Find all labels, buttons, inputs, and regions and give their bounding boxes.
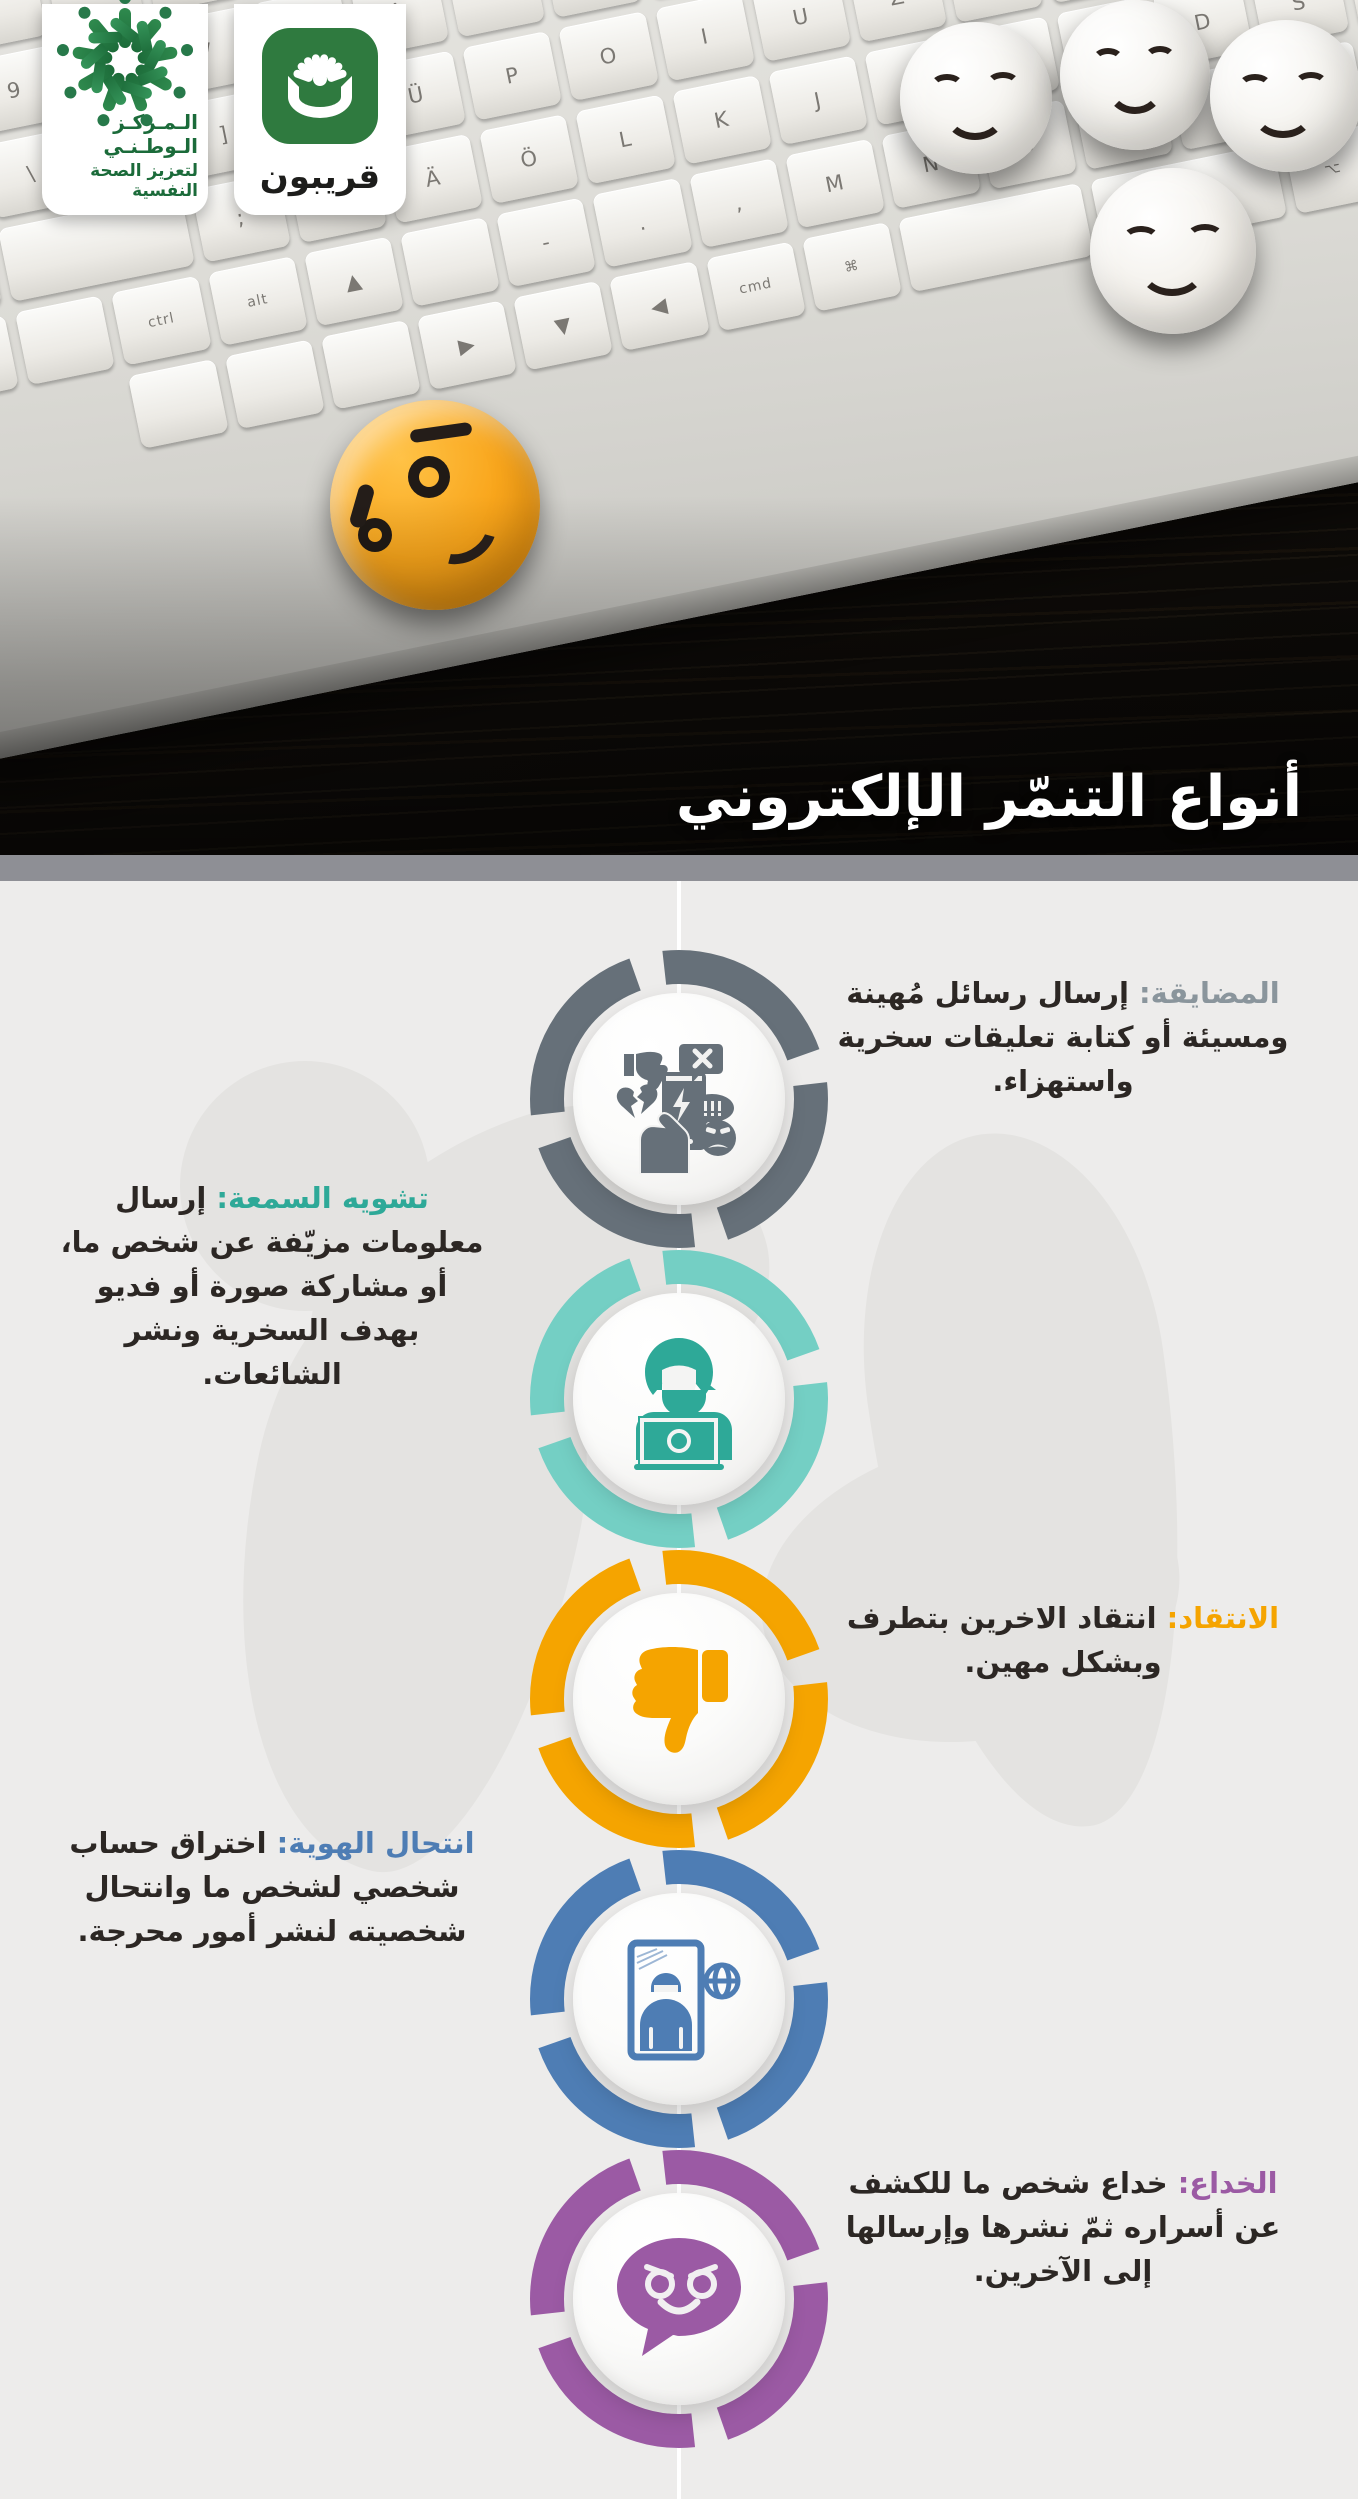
node-impersonation[interactable] xyxy=(529,1849,829,2149)
logo-line2: لتعزيز الصحة النفسية xyxy=(52,161,198,201)
qareeboon-smile-icon xyxy=(288,76,352,118)
logo-national-center: الـمـركـز الـوطـنـي لتعزيز الصحة النفسية xyxy=(42,4,208,215)
icon-disc-1 xyxy=(573,993,785,1205)
lead-criticism: الانتقاد: xyxy=(1167,1601,1280,1635)
icon-disc-2 xyxy=(573,1293,785,1505)
lead-impersonation: انتحال الهوية: xyxy=(277,1826,475,1860)
hero-photo: esc F1 F2 F3 F4 F5 F6 F7 F8 F9 F10 F11 F… xyxy=(0,0,1358,855)
page-title: أنواع التنمّر الإلكتروني xyxy=(676,764,1302,830)
node-deception[interactable] xyxy=(529,2149,829,2449)
qareeboon-app-icon xyxy=(262,28,378,144)
logo-qareeboon: قريبون xyxy=(234,4,406,215)
thumbs-down-icon xyxy=(614,1634,744,1764)
text-criticism: الانتقاد: انتقاد الاخرين بتطرف وبشكل مهي… xyxy=(828,1596,1298,1684)
hooded-hacker-laptop-icon xyxy=(604,1324,754,1474)
logo-line1: الـمـركـز الـوطـنـي xyxy=(52,110,198,158)
logo-group: الـمـركـز الـوطـنـي لتعزيز الصحة النفسية… xyxy=(42,4,406,215)
content-area: المضايقة: إرسال رسائل مُهينة ومسيئة أو ك… xyxy=(0,881,1358,2499)
text-impersonation: انتحال الهوية: اختراق حساب شخصي لشخص ما … xyxy=(52,1821,492,1953)
qareeboon-label: قريبون xyxy=(260,157,380,197)
lead-defamation: تشويه السمعة: xyxy=(216,1181,429,1215)
devious-face-speech-bubble-icon xyxy=(604,2224,754,2374)
icon-disc-5 xyxy=(573,2193,785,2405)
node-criticism[interactable] xyxy=(529,1549,829,1849)
national-center-emblem-icon xyxy=(72,20,178,101)
text-harassment: المضايقة: إرسال رسائل مُهينة ومسيئة أو ك… xyxy=(828,971,1298,1103)
text-defamation: تشويه السمعة: إرسال معلومات مزيّفة عن شخ… xyxy=(52,1176,492,1396)
lead-deception: الخداع: xyxy=(1178,2166,1278,2200)
lead-harassment: المضايقة: xyxy=(1139,976,1280,1010)
text-deception: الخداع: خداع شخص ما للكشف عن أسراره ثمّ … xyxy=(828,2161,1298,2293)
infographic-poster: esc F1 F2 F3 F4 F5 F6 F7 F8 F9 F10 F11 F… xyxy=(0,0,1358,2499)
icon-disc-3 xyxy=(573,1593,785,1805)
fake-profile-phone-icon xyxy=(609,1929,749,2069)
section-divider xyxy=(0,855,1358,881)
icon-disc-4 xyxy=(573,1893,785,2105)
body-criticism: انتقاد الاخرين بتطرف وبشكل مهين. xyxy=(847,1601,1167,1679)
node-defamation[interactable] xyxy=(529,1249,829,1549)
watermark-shape-5 xyxy=(833,1114,1228,1849)
node-harassment[interactable] xyxy=(529,949,829,1249)
phone-harassment-icon xyxy=(604,1024,754,1174)
